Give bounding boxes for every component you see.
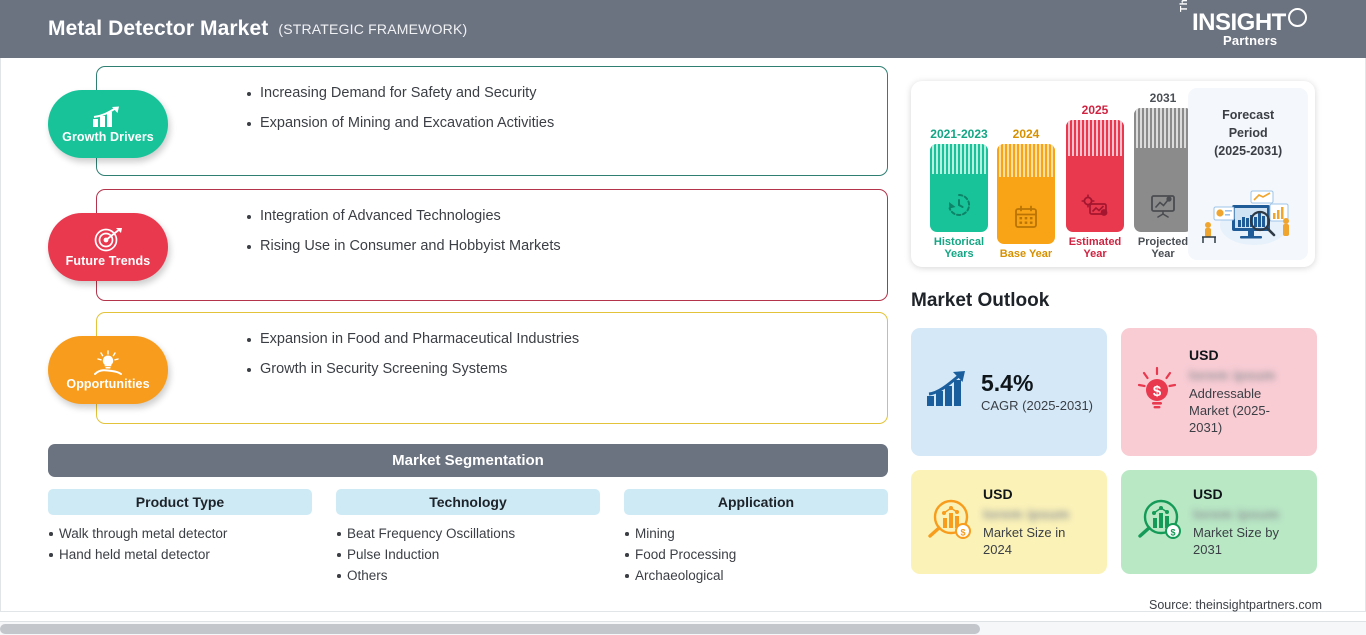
badge-label: Opportunities <box>66 377 149 391</box>
list-item: Walk through metal detector <box>48 526 312 541</box>
insight-partners-logo[interactable]: The INSIGHT Partners <box>1179 9 1304 51</box>
driver-row-opportunities: Expansion in Food and Pharmaceutical Ind… <box>48 312 888 434</box>
bar-stripe-top <box>930 144 988 174</box>
badge-growth-drivers[interactable]: Growth Drivers <box>48 90 168 158</box>
ms2031-currency: USD <box>1193 486 1303 502</box>
page-title: Metal Detector Market <box>48 17 268 41</box>
segmentation-columns: Product Type Walk through metal detector… <box>48 489 888 589</box>
list-item: Hand held metal detector <box>48 547 312 562</box>
driver-box-opportunities: Expansion in Food and Pharmaceutical Ind… <box>96 312 888 424</box>
source-attribution: Source: theinsightpartners.com <box>1149 598 1322 612</box>
segmentation-column-application: Application Mining Food Processing Archa… <box>624 489 888 589</box>
timeline-bar <box>1066 120 1124 232</box>
lightbulb-hand-icon <box>91 350 125 376</box>
magnifier-chart-orange-icon: $ <box>925 497 973 548</box>
timeline-year: 2021-2023 <box>927 127 991 141</box>
list-item: Increasing Demand for Safety and Securit… <box>247 85 873 101</box>
ms2031-label: Market Size by 2031 <box>1193 525 1303 559</box>
bar-stripe-top <box>997 144 1055 177</box>
driver-box-growth-drivers: Increasing Demand for Safety and Securit… <box>96 66 888 176</box>
segmentation-items: Walk through metal detector Hand held me… <box>48 526 312 562</box>
driver-list-growth-drivers: Increasing Demand for Safety and Securit… <box>97 67 887 149</box>
ms2024-value-blurred: lorem ipsum <box>983 506 1093 522</box>
cagr-label: CAGR (2025-2031) <box>981 398 1093 413</box>
timeline-caption: Historical Years <box>927 236 991 261</box>
list-item: Beat Frequency Oscillations <box>336 526 600 541</box>
market-segmentation-section: Market Segmentation Product Type Walk th… <box>48 444 888 589</box>
timeline-caption: Projected Year <box>1129 236 1197 261</box>
bar-stripe-top <box>1134 108 1192 148</box>
timeline-bar <box>930 144 988 232</box>
outlook-card-addressable-market: $ USD lorem ipsum Addressable Market (20… <box>1121 328 1317 456</box>
magnifier-chart-green-icon: $ <box>1135 497 1183 548</box>
forecast-period-panel: Forecast Period (2025-2031) <box>1188 88 1308 260</box>
badge-label: Growth Drivers <box>62 130 154 144</box>
growth-chart-icon <box>925 369 971 416</box>
logo-ring-icon <box>1288 8 1307 27</box>
tam-label: Addressable Market (2025-2031) <box>1189 386 1303 437</box>
svg-text:$: $ <box>1170 527 1175 537</box>
forecast-gear-icon <box>1081 194 1109 223</box>
segmentation-items: Beat Frequency Oscillations Pulse Induct… <box>336 526 600 583</box>
timeline-year: 2024 <box>994 127 1058 141</box>
driver-row-growth-drivers: Increasing Demand for Safety and Securit… <box>48 66 888 186</box>
driver-list-future-trends: Integration of Advanced Technologies Ris… <box>97 190 887 272</box>
timeline-item-estimated: 2025 <box>1061 103 1129 261</box>
list-item: Mining <box>624 526 888 541</box>
target-dart-icon <box>92 227 124 253</box>
badge-future-trends[interactable]: Future Trends <box>48 213 168 281</box>
forecast-line-3: (2025-2031) <box>1188 142 1308 160</box>
left-content-column: Increasing Demand for Safety and Securit… <box>0 58 900 618</box>
segmentation-header: Technology <box>336 489 600 515</box>
forecast-line-1: Forecast <box>1188 106 1308 124</box>
timeline-caption: Estimated Year <box>1061 236 1129 261</box>
right-content-column: 2021-2023 Historical Years <box>905 58 1366 618</box>
market-timeline-card: 2021-2023 Historical Years <box>911 81 1315 267</box>
outlook-card-market-size-2031: $ USD lorem ipsum Market Size by 2031 <box>1121 470 1317 574</box>
page-subtitle: (STRATEGIC FRAMEWORK) <box>278 21 467 37</box>
timeline-item-historical: 2021-2023 Historical Years <box>927 127 991 261</box>
logo-partners-text: Partners <box>1223 33 1277 48</box>
ms2024-label: Market Size in 2024 <box>983 525 1093 559</box>
timeline-bar <box>997 144 1055 244</box>
segmentation-header: Application <box>624 489 888 515</box>
ms2024-text-group: USD lorem ipsum Market Size in 2024 <box>983 486 1093 559</box>
list-item: Archaeological <box>624 568 888 583</box>
list-item: Pulse Induction <box>336 547 600 562</box>
svg-text:$: $ <box>960 527 965 537</box>
market-outlook-cards: 5.4% CAGR (2025-2031) <box>911 328 1321 588</box>
infographic-page: Metal Detector Market (STRATEGIC FRAMEWO… <box>0 0 1366 635</box>
scrollbar-thumb[interactable] <box>0 624 980 634</box>
list-item: Expansion of Mining and Excavation Activ… <box>247 115 873 131</box>
driver-row-future-trends: Integration of Advanced Technologies Ris… <box>48 189 888 311</box>
clock-rewind-icon <box>946 192 972 223</box>
cagr-text-group: 5.4% CAGR (2025-2031) <box>981 371 1093 413</box>
cagr-value: 5.4% <box>981 371 1093 396</box>
ms2031-value-blurred: lorem ipsum <box>1193 506 1303 522</box>
timeline-item-projected: 2031 <box>1129 91 1197 261</box>
svg-text:$: $ <box>1153 383 1162 400</box>
timeline-year: 2025 <box>1061 103 1129 117</box>
horizontal-scrollbar[interactable] <box>0 621 1366 635</box>
timeline-caption: Base Year <box>994 248 1058 261</box>
segmentation-items: Mining Food Processing Archaeological <box>624 526 888 583</box>
tam-text-group: USD lorem ipsum Addressable Market (2025… <box>1189 347 1303 437</box>
segmentation-header: Product Type <box>48 489 312 515</box>
driver-box-future-trends: Integration of Advanced Technologies Ris… <box>96 189 888 301</box>
analytics-dashboard-illustration <box>1196 185 1300 252</box>
dollar-bulb-icon: $ <box>1135 366 1179 419</box>
presentation-chart-icon <box>1149 192 1177 223</box>
list-item: Integration of Advanced Technologies <box>247 208 873 224</box>
bar-chart-arrow-icon <box>91 105 125 129</box>
forecast-line-2: Period <box>1188 124 1308 142</box>
outlook-card-row-1: 5.4% CAGR (2025-2031) <box>911 328 1321 456</box>
page-header: Metal Detector Market (STRATEGIC FRAMEWO… <box>0 0 1366 58</box>
timeline-bars: 2021-2023 Historical Years <box>911 81 1188 267</box>
list-item: Rising Use in Consumer and Hobbyist Mark… <box>247 238 873 254</box>
list-item: Growth in Security Screening Systems <box>247 361 873 377</box>
list-item: Food Processing <box>624 547 888 562</box>
timeline-item-base: 2024 <box>994 127 1058 261</box>
tam-value-blurred: lorem ipsum <box>1189 367 1303 383</box>
outlook-card-market-size-2024: $ USD lorem ipsum Market Size in 2024 <box>911 470 1107 574</box>
segmentation-column-product-type: Product Type Walk through metal detector… <box>48 489 312 589</box>
driver-list-opportunities: Expansion in Food and Pharmaceutical Ind… <box>97 313 887 395</box>
timeline-year: 2031 <box>1129 91 1197 105</box>
forecast-period-text: Forecast Period (2025-2031) <box>1188 106 1308 160</box>
tam-currency: USD <box>1189 347 1303 363</box>
segmentation-column-technology: Technology Beat Frequency Oscillations P… <box>336 489 600 589</box>
timeline-bar <box>1134 108 1192 232</box>
badge-label: Future Trends <box>66 254 151 268</box>
logo-the-text: The <box>1179 0 1190 12</box>
header-title-group: Metal Detector Market (STRATEGIC FRAMEWO… <box>48 0 467 58</box>
list-item: Expansion in Food and Pharmaceutical Ind… <box>247 331 873 347</box>
calendar-icon <box>1013 204 1039 235</box>
ms2024-currency: USD <box>983 486 1093 502</box>
segmentation-title: Market Segmentation <box>48 444 888 477</box>
badge-opportunities[interactable]: Opportunities <box>48 336 168 404</box>
market-outlook-title: Market Outlook <box>911 290 1049 312</box>
bar-stripe-top <box>1066 120 1124 156</box>
ms2031-text-group: USD lorem ipsum Market Size by 2031 <box>1193 486 1303 559</box>
list-item: Others <box>336 568 600 583</box>
outlook-card-row-2: $ USD lorem ipsum Market Size in 2024 <box>911 470 1321 574</box>
outlook-card-cagr: 5.4% CAGR (2025-2031) <box>911 328 1107 456</box>
